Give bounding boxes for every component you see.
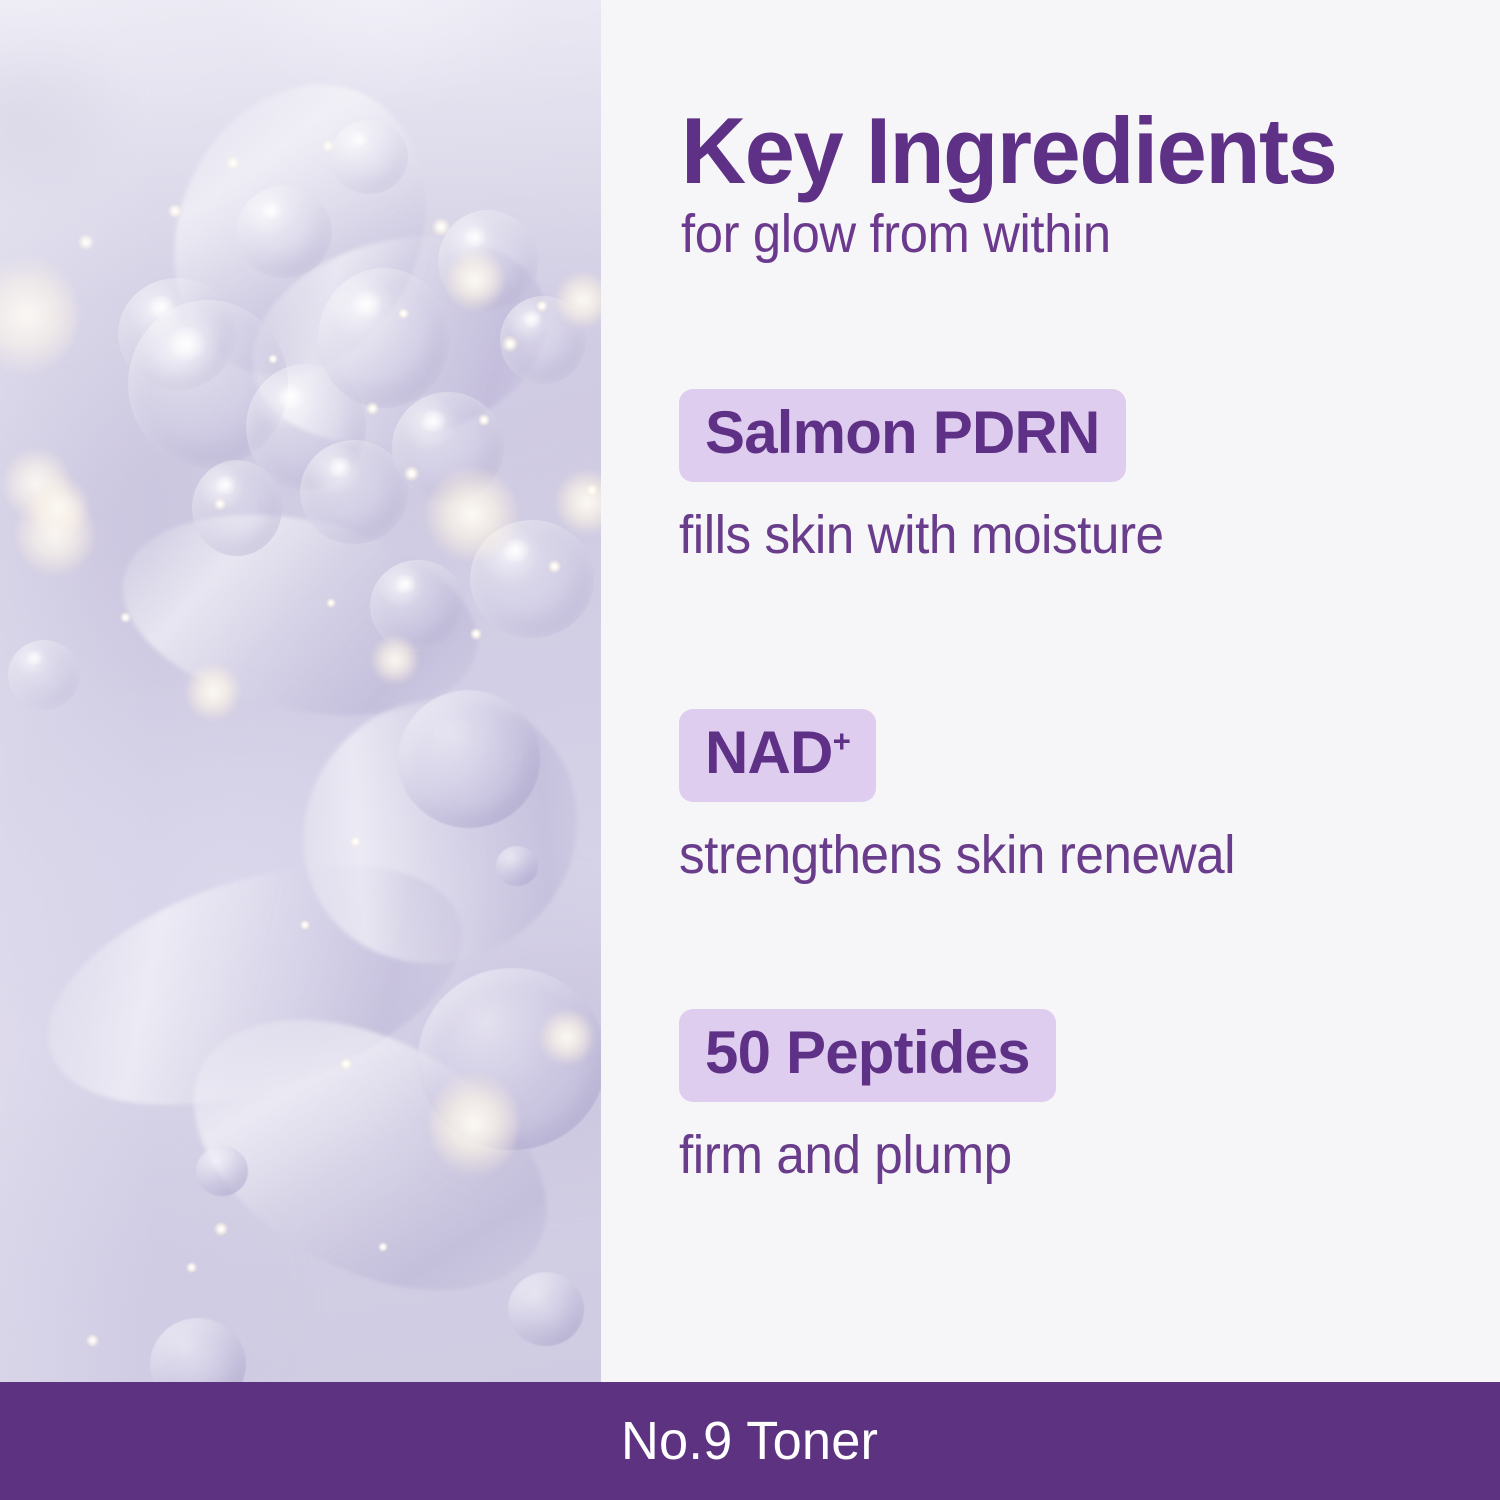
product-name: No.9 Toner — [621, 1410, 878, 1472]
page-title: Key Ingredients — [681, 104, 1468, 198]
light-sparkle — [502, 336, 518, 352]
light-bokeh — [372, 636, 418, 684]
light-sparkle — [398, 308, 409, 319]
gel-droplet — [196, 1146, 248, 1196]
ingredient-name-3: 50 Peptides — [705, 1019, 1030, 1086]
gel-bubble — [330, 120, 408, 194]
light-sparkle — [350, 836, 361, 847]
product-infographic: Key Ingredients for glow from within Sal… — [0, 0, 1500, 1500]
ingredient-item-3: 50 Peptides firm and plump — [679, 1009, 1489, 1186]
ingredient-name-badge-3: 50 Peptides — [679, 1009, 1056, 1102]
light-sparkle — [168, 204, 182, 218]
light-bokeh — [446, 250, 504, 310]
light-sparkle — [120, 612, 131, 623]
light-bokeh — [426, 468, 518, 560]
light-sparkle — [326, 598, 336, 608]
light-sparkle — [214, 1222, 228, 1236]
gel-bubble — [8, 640, 80, 710]
light-sparkle — [214, 498, 226, 510]
light-sparkle — [86, 1334, 99, 1347]
light-bokeh — [540, 1010, 594, 1064]
light-sparkle — [432, 218, 450, 236]
ingredient-name-1: Salmon PDRN — [705, 399, 1100, 466]
light-bokeh — [186, 664, 240, 720]
light-bokeh — [30, 476, 88, 538]
gel-droplet — [508, 1272, 584, 1346]
light-sparkle — [340, 1058, 352, 1070]
light-sparkle — [378, 1242, 388, 1252]
ingredient-item-2: NAD+ strengthens skin renewal — [679, 709, 1489, 886]
ingredient-name-badge-1: Salmon PDRN — [679, 389, 1126, 482]
ingredient-item-1: Salmon PDRN fills skin with moisture — [679, 389, 1489, 566]
ingredient-texture-photo — [0, 0, 601, 1382]
ingredient-description-3: firm and plump — [679, 1124, 1449, 1186]
light-sparkle — [586, 484, 598, 496]
product-footer-band: No.9 Toner — [0, 1382, 1500, 1500]
light-sparkle — [186, 1262, 197, 1273]
light-sparkle — [536, 300, 548, 312]
gel-bubble — [318, 268, 450, 408]
ingredient-description-1: fills skin with moisture — [679, 504, 1449, 566]
ingredient-name-2: NAD — [705, 719, 833, 786]
light-sparkle — [226, 156, 240, 170]
light-sparkle — [404, 466, 419, 481]
ingredient-description-2: strengthens skin renewal — [679, 824, 1449, 886]
light-sparkle — [300, 920, 310, 930]
gel-bubble — [192, 460, 282, 556]
ingredients-content-panel: Key Ingredients for glow from within Sal… — [601, 0, 1500, 1382]
gel-bubble — [300, 440, 408, 544]
light-sparkle — [78, 234, 94, 250]
light-sparkle — [268, 354, 278, 364]
gel-droplet — [398, 690, 540, 828]
light-sparkle — [366, 402, 379, 415]
light-sparkle — [470, 628, 482, 640]
light-bokeh — [430, 1072, 518, 1176]
ingredient-superscript-2: + — [833, 724, 850, 759]
light-bokeh — [556, 272, 601, 328]
gel-droplet — [496, 846, 538, 886]
light-sparkle — [548, 560, 561, 573]
ingredient-name-badge-2: NAD+ — [679, 709, 876, 802]
page-subtitle: for glow from within — [681, 206, 1452, 263]
light-sparkle — [322, 140, 334, 152]
gel-bubble — [236, 186, 332, 278]
light-sparkle — [478, 414, 490, 426]
